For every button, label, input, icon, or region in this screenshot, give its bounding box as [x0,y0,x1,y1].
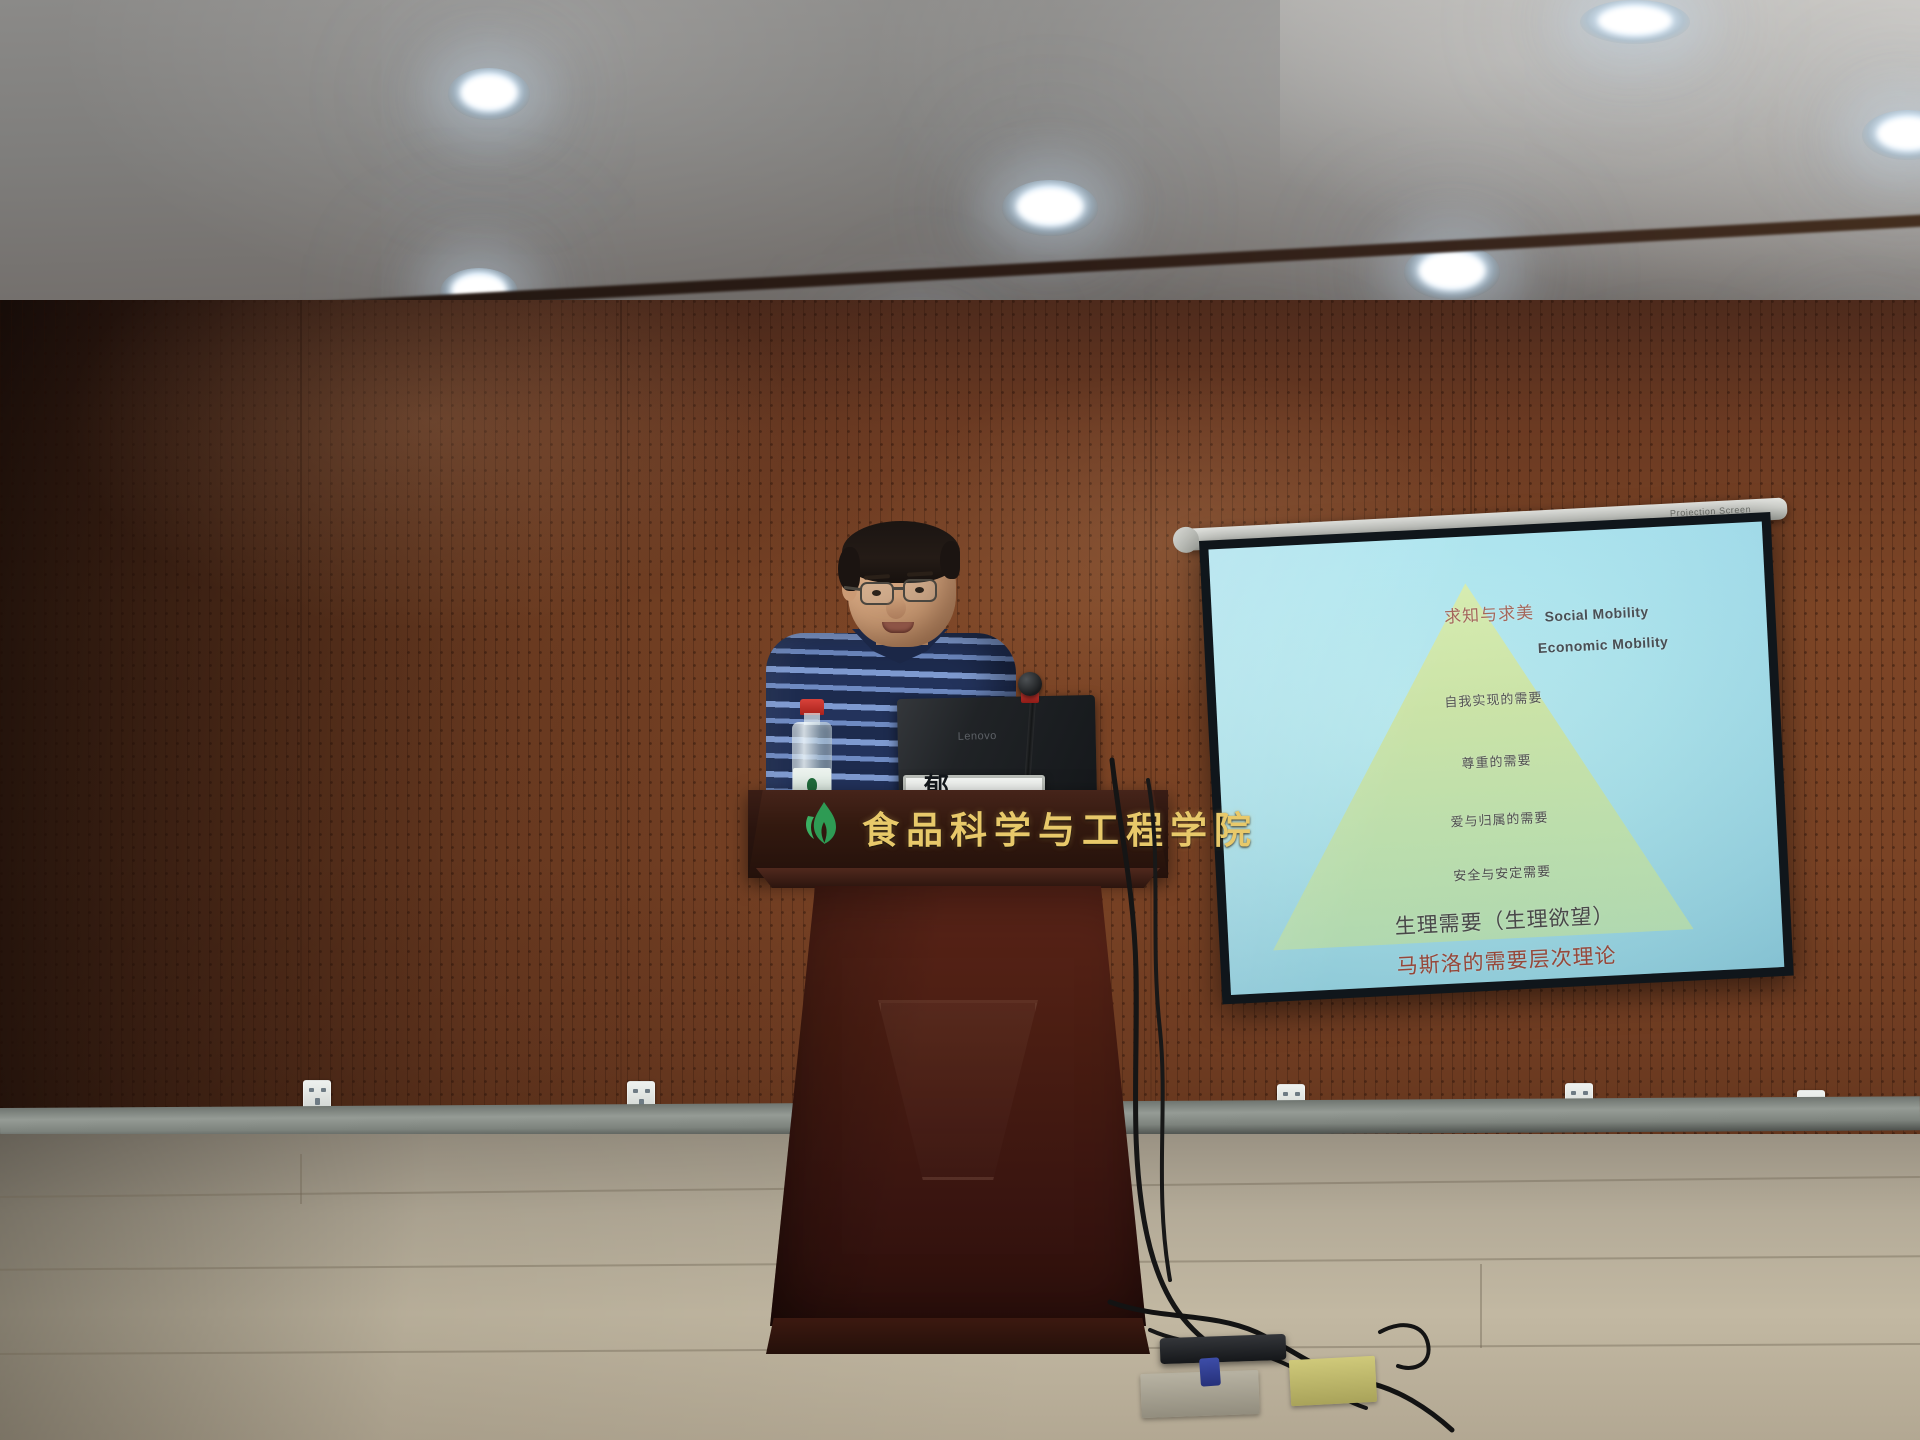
ceiling-downlight [448,68,530,120]
speaker-nose [886,597,906,619]
ceiling-downlight [1580,0,1690,44]
speaker-hair-side [838,547,860,591]
microphone-head[interactable] [1018,672,1042,696]
roller-end-cap [1172,526,1199,553]
wall-panel-seam [620,300,622,1200]
floor-plank-line [300,1154,302,1204]
floor-power-strip[interactable] [1160,1334,1287,1364]
leaf-flame-logo [798,798,850,846]
speaker-glasses-bridge [893,587,905,590]
speaker-eye [915,587,924,593]
ceiling-downlight [1002,180,1098,236]
floor-cable-box-yellow[interactable] [1289,1356,1377,1406]
lecture-hall-photo: Projection Screen 求知与求美 自我实现的需要 尊重的需要 爱与… [0,0,1920,1440]
speaker-hair-side [940,541,960,579]
laptop-brand-label: Lenovo [958,730,997,743]
speaker-wall-cable [1140,780,1220,1300]
side-note-economic-mobility: Economic Mobility [1538,633,1669,656]
wall-panel-seam [300,300,302,1200]
blue-plug [1199,1357,1221,1386]
speaker-eye [872,590,881,596]
